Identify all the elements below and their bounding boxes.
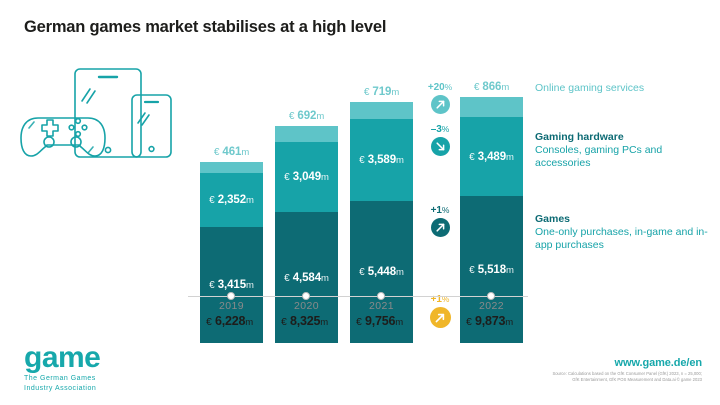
currency-symbol: €	[209, 280, 214, 291]
phone-icon	[132, 95, 171, 157]
currency-symbol: €	[359, 267, 364, 278]
axis-tick-2020	[302, 292, 310, 300]
unit: m	[246, 195, 254, 206]
delta-online-gaming-services: +20%	[418, 82, 462, 114]
unit: m	[245, 317, 253, 328]
legend-subtitle: Consoles, gaming PCs and accessories	[535, 144, 713, 170]
logo-wordmark: game	[24, 343, 164, 373]
currency-symbol: €	[284, 273, 289, 284]
value: 3,589	[368, 154, 396, 166]
bar-group-2021: € 719m € 3,589m € 5,448m	[350, 60, 413, 283]
percent-symbol: %	[442, 205, 449, 215]
bar-segment-label: € 3,049m	[284, 171, 329, 183]
axis-label-2019: 2019	[200, 300, 263, 312]
percent-symbol: %	[442, 124, 449, 134]
game-logo: game The German Games Industry Associati…	[24, 343, 164, 393]
total-2020: € 8,325m	[273, 314, 336, 328]
arrow-down-icon	[431, 137, 450, 156]
bar-top-label-2021: € 719m	[350, 86, 413, 98]
currency-symbol: €	[359, 155, 364, 166]
bar-top-label-2019: € 461m	[200, 146, 263, 158]
bar-top-label-2020: € 692m	[275, 110, 338, 122]
currency-symbol: €	[209, 195, 214, 206]
value: 2,352	[218, 194, 246, 206]
currency-symbol: €	[466, 316, 472, 328]
bar-segment-label: € 3,489m	[469, 151, 514, 163]
source-line-2: GfK Entertainment, GfK POS Measurement a…	[402, 377, 702, 383]
percent-symbol: %	[445, 82, 452, 92]
legend-subtitle: One-only purchases, in-game and in-app p…	[535, 226, 713, 252]
value: 719	[372, 86, 391, 98]
currency-symbol: €	[289, 111, 294, 122]
currency-symbol: €	[469, 265, 474, 276]
delta-value: –3%	[418, 124, 462, 135]
delta-games: +1%	[418, 205, 462, 237]
delta-number: +20	[428, 82, 445, 93]
value: 8,325	[290, 314, 320, 328]
tablet-icon	[75, 69, 141, 157]
website-url[interactable]: www.game.de/en	[615, 357, 702, 369]
currency-symbol: €	[281, 316, 287, 328]
arrow-up-icon	[430, 307, 451, 328]
unit: m	[391, 87, 399, 98]
bar-segment-label: € 2,352m	[209, 194, 254, 206]
currency-symbol: €	[474, 82, 479, 93]
currency-symbol: €	[284, 172, 289, 183]
value: 3,049	[293, 171, 321, 183]
unit: m	[395, 317, 403, 328]
unit: m	[241, 147, 249, 158]
page-title: German games market stabilises at a high…	[24, 18, 386, 37]
unit: m	[396, 155, 404, 166]
value: 4,584	[293, 272, 321, 284]
axis-tick-2022	[487, 292, 495, 300]
axis-tick-2019	[227, 292, 235, 300]
total-2022: € 9,873m	[458, 314, 521, 328]
devices-illustration	[18, 55, 198, 180]
logo-tagline-line2: Industry Association	[24, 384, 164, 393]
value: 461	[222, 146, 241, 158]
unit: m	[316, 111, 324, 122]
axis-label-2022: 2022	[460, 300, 523, 312]
currency-symbol: €	[469, 152, 474, 163]
bar-segment-label: € 5,518m	[469, 264, 514, 276]
axis-label-2021: 2021	[350, 300, 413, 312]
unit: m	[501, 82, 509, 93]
bar-segment-online-2020[interactable]	[275, 126, 338, 142]
bar-segment-hardware-2022[interactable]: € 3,489m	[460, 117, 523, 196]
currency-symbol: €	[206, 316, 212, 328]
value: 3,489	[478, 151, 506, 163]
value: 692	[297, 110, 316, 122]
unit: m	[320, 317, 328, 328]
bar-segment-online-2021[interactable]	[350, 102, 413, 119]
bar-segment-hardware-2021[interactable]: € 3,589m	[350, 119, 413, 201]
delta-total: +1%	[418, 294, 462, 328]
bar-segment-online-2019[interactable]	[200, 162, 263, 173]
delta-gaming-hardware: –3%	[418, 124, 462, 156]
total-2019: € 6,228m	[198, 314, 261, 328]
unit: m	[396, 267, 404, 278]
bar-segment-label: € 3,415m	[209, 279, 254, 291]
legend-item-online-gaming-services: Online gaming services	[535, 82, 713, 95]
delta-value: +20%	[418, 82, 462, 93]
bar-segment-label: € 5,448m	[359, 266, 404, 278]
currency-symbol: €	[364, 87, 369, 98]
unit: m	[246, 280, 254, 291]
arrow-up-icon	[431, 95, 450, 114]
unit: m	[505, 317, 513, 328]
delta-number: +1	[431, 205, 442, 216]
currency-symbol: €	[214, 147, 219, 158]
bar-segment-label: € 3,589m	[359, 154, 404, 166]
bar-group-2020: € 692m € 3,049m € 4,584m	[275, 60, 338, 283]
delta-value: +1%	[418, 205, 462, 216]
arrow-up-icon	[431, 218, 450, 237]
value: 9,756	[365, 314, 395, 328]
value: 866	[482, 81, 501, 93]
value: 5,518	[478, 264, 506, 276]
source-note: Source: Calculations based on the GfK Co…	[402, 371, 702, 383]
bar-group-2019: € 461m € 2,352m € 3,415m	[200, 60, 263, 283]
axis-label-2020: 2020	[275, 300, 338, 312]
bar-segment-online-2022[interactable]	[460, 97, 523, 117]
currency-symbol: €	[356, 316, 362, 328]
gamepad-icon	[21, 118, 105, 156]
legend-title: Online gaming services	[535, 82, 713, 95]
legend-item-gaming-hardware: Gaming hardware Consoles, gaming PCs and…	[535, 131, 713, 170]
unit: m	[506, 152, 514, 163]
unit: m	[321, 273, 329, 284]
value: 9,873	[475, 314, 505, 328]
bar-segment-label: € 4,584m	[284, 272, 329, 284]
unit: m	[321, 172, 329, 183]
legend-title: Gaming hardware	[535, 131, 713, 144]
value: 5,448	[368, 266, 396, 278]
bar-segment-hardware-2020[interactable]: € 3,049m	[275, 142, 338, 212]
total-2021: € 9,756m	[348, 314, 411, 328]
bar-top-label-2022: € 866m	[460, 81, 523, 93]
axis-line	[188, 296, 528, 297]
logo-tagline-line1: The German Games	[24, 374, 164, 383]
legend-title: Games	[535, 213, 713, 226]
axis-tick-2021	[377, 292, 385, 300]
value: 3,415	[218, 279, 246, 291]
value: 6,228	[215, 314, 245, 328]
bar-segment-hardware-2019[interactable]: € 2,352m	[200, 173, 263, 227]
legend-item-games: Games One-only purchases, in-game and in…	[535, 213, 713, 252]
unit: m	[506, 265, 514, 276]
bar-group-2022: € 866m € 3,489m € 5,518m	[460, 60, 523, 283]
delta-number: –3	[431, 124, 442, 135]
